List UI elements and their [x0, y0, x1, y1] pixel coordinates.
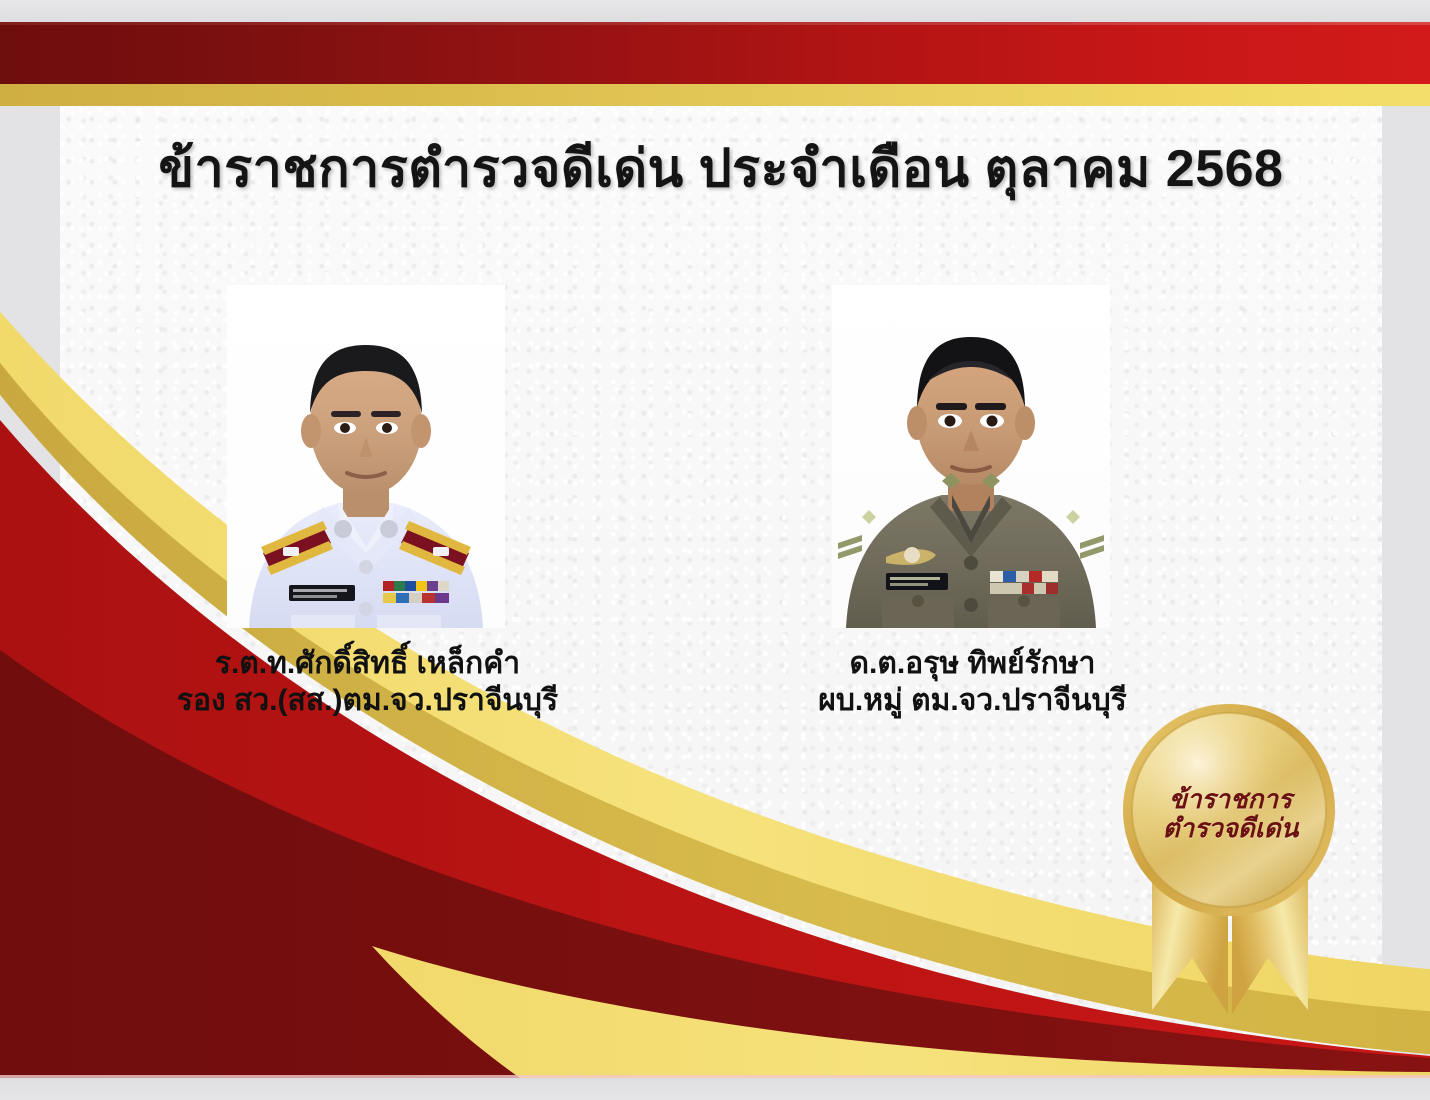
top-red-highlight — [0, 22, 1430, 25]
honoree-name-1: ร.ต.ท.ศักดิ์สิทธิ์ เหล็กคำ — [100, 646, 635, 683]
top-red-band — [0, 22, 1430, 84]
officer-portrait-khaki-uniform-icon — [832, 285, 1110, 628]
honoree-name-2: ด.ต.อรุษ ทิพย์รักษา — [705, 646, 1240, 683]
award-badge-line-2: ตำรวจดีเด่น — [1128, 814, 1333, 843]
honoree-position-1: รอง สว.(สส.)ตม.จว.ปราจีนบุรี — [100, 683, 635, 720]
bottom-gray-strip — [0, 1078, 1430, 1100]
honoree-photo-2 — [832, 285, 1110, 628]
officer-portrait-white-uniform-icon — [227, 285, 505, 628]
honoree-caption-1: ร.ต.ท.ศักดิ์สิทธิ์ เหล็กคำ รอง สว.(สส.)ต… — [100, 646, 635, 719]
honoree-position-2: ผบ.หมู่ ตม.จว.ปราจีนบุรี — [705, 683, 1240, 720]
top-gray-strip — [0, 0, 1430, 22]
page-title: ข้าราชการตำรวจดีเด่น ประจำเดือน ตุลาคม 2… — [60, 126, 1382, 209]
award-badge-line-1: ข้าราชการ — [1128, 785, 1333, 814]
honoree-caption-2: ด.ต.อรุษ ทิพย์รักษา ผบ.หมู่ ตม.จว.ปราจีน… — [705, 646, 1240, 719]
award-badge-label: ข้าราชการ ตำรวจดีเด่น — [1128, 785, 1333, 843]
honoree-photo-1 — [227, 285, 505, 628]
slide-canvas: ข้าราชการตำรวจดีเด่น ประจำเดือน ตุลาคม 2… — [0, 0, 1430, 1100]
top-gold-band — [0, 84, 1430, 106]
